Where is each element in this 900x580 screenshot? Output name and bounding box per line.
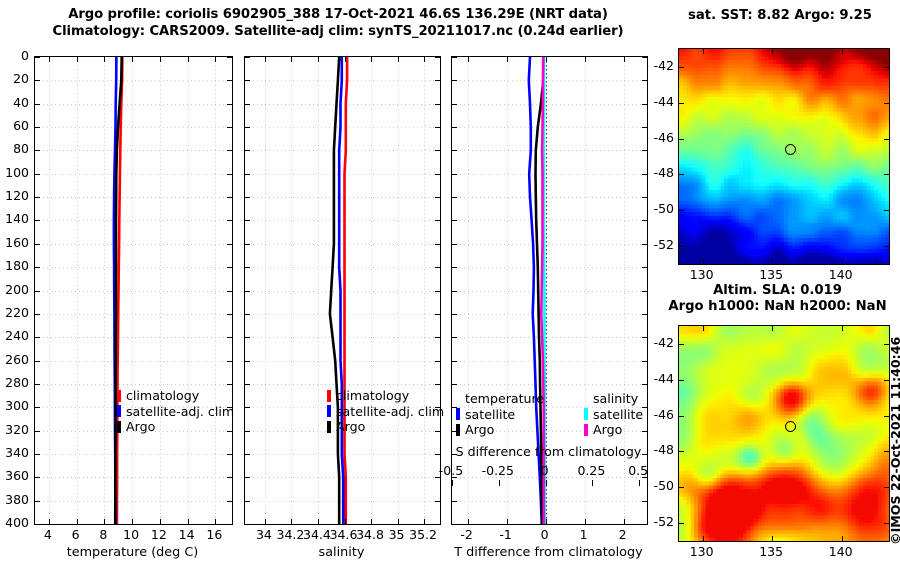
axis-tick: [371, 57, 372, 62]
axis-tick: [452, 174, 457, 175]
map-tick: [703, 49, 704, 54]
axis-tick: [35, 501, 40, 502]
legend-title: temperature: [456, 391, 544, 407]
sst-field: [679, 49, 889, 264]
map-tick: [884, 103, 889, 104]
axis-tick: [227, 314, 232, 315]
depth-tick-label: 80: [0, 141, 29, 156]
axis-tick: [452, 244, 457, 245]
map-lat-tick-label: -46: [644, 130, 674, 145]
axis-tick: [77, 57, 78, 62]
axis-tick: [245, 337, 250, 338]
map-tick: [772, 259, 773, 264]
legend-label: Argo: [126, 419, 155, 435]
map-lat-tick-label: -50: [644, 201, 674, 216]
map-tick: [884, 139, 889, 140]
depth-tick-label: 160: [0, 235, 29, 250]
axis-tick: [642, 220, 647, 221]
series-satellite-adj-clim: [339, 57, 343, 524]
legend-label: Argo: [336, 419, 365, 435]
sla-map-title: Altim. SLA: 0.019 Argo h1000: NaN h2000:…: [655, 283, 900, 315]
axis-tick: [227, 291, 232, 292]
legend-swatch-satellite: [456, 408, 460, 420]
map-tick: [842, 49, 843, 54]
map-tick: [772, 536, 773, 541]
x-axis-label: temperature (deg C): [34, 545, 231, 560]
map-lat-tick-label: -50: [644, 478, 674, 493]
axis-tick: [435, 337, 440, 338]
axis-tick: [468, 57, 469, 62]
salinity-difference-tick-label: -0.5: [426, 463, 476, 478]
map-lat-tick-label: -46: [644, 407, 674, 422]
axis-tick: [215, 57, 216, 62]
map-tick: [842, 536, 843, 541]
axis-tick: [245, 127, 250, 128]
legend-label: Argo: [465, 422, 494, 438]
axis-tick: [435, 174, 440, 175]
axis-tick: [35, 267, 40, 268]
map-tick: [679, 67, 684, 68]
salinity-difference-tick-label: 0: [520, 463, 570, 478]
axis-tick: [227, 384, 232, 385]
map-lon-tick-label: 130: [677, 544, 727, 559]
axis-tick: [452, 384, 457, 385]
axis-tick: [104, 519, 105, 524]
axis-tick: [435, 197, 440, 198]
sst-map[interactable]: [678, 48, 890, 265]
depth-tick-label: 60: [0, 118, 29, 133]
axis-tick: [245, 477, 250, 478]
legend-swatch-climatology: [327, 390, 331, 402]
map-lat-tick-label: -48: [644, 165, 674, 180]
map-lat-tick-label: -52: [644, 237, 674, 252]
depth-tick-label: 320: [0, 422, 29, 437]
axis-tick: [227, 361, 232, 362]
map-lon-tick-label: 135: [746, 544, 796, 559]
depth-tick-label: 300: [0, 398, 29, 413]
axis-tick: [35, 477, 40, 478]
map-tick: [679, 451, 684, 452]
legend-title: salinity: [584, 391, 643, 407]
axis-tick: [49, 519, 50, 524]
map-tick: [884, 67, 889, 68]
map-tick: [884, 174, 889, 175]
axis-tick: [245, 361, 250, 362]
axis-tick: [452, 57, 457, 58]
axis-tick: [585, 519, 586, 524]
depth-tick-label: 400: [0, 515, 29, 530]
axis-tick: [35, 361, 40, 362]
axis-tick: [245, 174, 250, 175]
axis-tick: [245, 431, 250, 432]
legend-item: climatology: [117, 388, 234, 404]
legend-label: satellite-adj. clim: [336, 404, 444, 420]
map-tick: [679, 344, 684, 345]
axis-tick: [424, 57, 425, 62]
axis-tick: [642, 291, 647, 292]
axis-tick: [35, 80, 40, 81]
salinity-difference-tick: [546, 480, 547, 486]
axis-tick: [245, 407, 250, 408]
axis-tick: [424, 519, 425, 524]
map-lon-tick-label: 130: [677, 267, 727, 282]
depth-tick-label: 120: [0, 188, 29, 203]
x-axis-label: salinity: [244, 545, 439, 560]
axis-tick: [291, 519, 292, 524]
map-tick: [679, 246, 684, 247]
map-tick: [679, 487, 684, 488]
temperature-plot-area: [35, 57, 232, 524]
map-tick: [679, 380, 684, 381]
axis-tick: [435, 150, 440, 151]
legend-label: satellite-adj. clim: [126, 404, 234, 420]
map-tick: [703, 536, 704, 541]
axis-tick: [435, 220, 440, 221]
axis-tick: [435, 314, 440, 315]
salinity-difference-tick-label: 0.25: [566, 463, 616, 478]
legend-swatch-climatology: [117, 390, 121, 402]
axis-tick: [452, 291, 457, 292]
argo-position-marker: [785, 144, 796, 155]
legend-group: climatologysatellite-adj. climArgo: [117, 388, 234, 435]
salinity-difference-tick: [452, 480, 453, 486]
axis-tick: [245, 150, 250, 151]
map-lat-tick-label: -52: [644, 514, 674, 529]
x-tick-label: 2: [598, 527, 648, 542]
legend-group: climatologysatellite-adj. climArgo: [327, 388, 444, 435]
legend-label: Argo: [593, 422, 622, 438]
axis-tick: [245, 220, 250, 221]
legend-label: satellite: [593, 407, 643, 423]
sla-map-title-line2: Argo h1000: NaN h2000: NaN: [655, 299, 900, 315]
legend-swatch-argo: [117, 421, 121, 433]
axis-tick: [35, 244, 40, 245]
axis-tick: [227, 267, 232, 268]
axis-tick: [452, 220, 457, 221]
depth-tick-label: 260: [0, 352, 29, 367]
axis-tick: [642, 127, 647, 128]
axis-tick: [452, 197, 457, 198]
map-tick: [679, 103, 684, 104]
axis-tick: [160, 57, 161, 62]
axis-tick: [227, 244, 232, 245]
axis-tick: [227, 57, 232, 58]
axis-tick: [35, 104, 40, 105]
legend-item: Argo: [456, 422, 544, 438]
axis-tick: [642, 80, 647, 81]
axis-tick: [227, 501, 232, 502]
axis-tick: [160, 519, 161, 524]
axis-tick: [507, 57, 508, 62]
axis-tick: [345, 519, 346, 524]
series-climatology: [345, 57, 348, 524]
axis-tick: [35, 314, 40, 315]
depth-tick-label: 340: [0, 445, 29, 460]
series-argo: [330, 57, 339, 524]
legend-label: climatology: [336, 388, 409, 404]
salinity-difference-axis-label: S difference from climatology: [451, 444, 646, 459]
map-lat-tick-label: -42: [644, 58, 674, 73]
axis-tick: [104, 57, 105, 62]
axis-tick: [227, 174, 232, 175]
axis-tick: [435, 361, 440, 362]
x-axis-label: T difference from climatology: [451, 545, 646, 560]
depth-tick-label: 240: [0, 328, 29, 343]
depth-tick-label: 140: [0, 211, 29, 226]
axis-tick: [452, 127, 457, 128]
axis-tick: [435, 384, 440, 385]
axis-tick: [245, 267, 250, 268]
legend-item: satellite-adj. clim: [117, 404, 234, 420]
axis-tick: [35, 220, 40, 221]
depth-tick-label: 280: [0, 375, 29, 390]
salinity-plot-area: [245, 57, 440, 524]
axis-tick: [435, 501, 440, 502]
map-tick: [679, 139, 684, 140]
map-tick: [772, 326, 773, 331]
axis-tick: [227, 220, 232, 221]
axis-tick: [35, 174, 40, 175]
legend-swatch-satellite-adj-clim: [117, 405, 121, 417]
axis-tick: [318, 57, 319, 62]
axis-tick: [435, 291, 440, 292]
axis-tick: [642, 314, 647, 315]
axis-tick: [245, 57, 250, 58]
legend-item: Argo: [327, 419, 444, 435]
axis-tick: [452, 150, 457, 151]
x-tick-label: 35.2: [398, 527, 448, 542]
legend-swatch-argo: [584, 424, 588, 436]
axis-tick: [435, 57, 440, 58]
axis-tick: [227, 337, 232, 338]
axis-tick: [291, 57, 292, 62]
axis-tick: [35, 384, 40, 385]
depth-tick-label: 40: [0, 95, 29, 110]
argo-position-marker: [785, 421, 796, 432]
legend-item: climatology: [327, 388, 444, 404]
legend-item: satellite-adj. clim: [327, 404, 444, 420]
axis-tick: [227, 80, 232, 81]
axis-tick: [435, 127, 440, 128]
map-lat-tick-label: -42: [644, 335, 674, 350]
axis-tick: [435, 80, 440, 81]
sla-field: [679, 326, 889, 541]
axis-tick: [642, 501, 647, 502]
axis-tick: [624, 57, 625, 62]
axis-tick: [624, 519, 625, 524]
axis-tick: [35, 291, 40, 292]
axis-tick: [245, 384, 250, 385]
legend-group: temperaturesatelliteArgo: [456, 391, 544, 438]
legend-item: satellite: [584, 407, 643, 423]
axis-tick: [245, 80, 250, 81]
axis-tick: [35, 127, 40, 128]
axis-tick: [245, 454, 250, 455]
axis-tick: [245, 291, 250, 292]
axis-tick: [265, 57, 266, 62]
axis-tick: [245, 104, 250, 105]
axis-tick: [245, 501, 250, 502]
depth-tick-label: 360: [0, 468, 29, 483]
legend-swatch-satellite: [584, 408, 588, 420]
temperature-profile-panel[interactable]: [34, 56, 233, 525]
legend-label: satellite: [465, 407, 515, 423]
axis-tick: [265, 519, 266, 524]
map-tick: [679, 523, 684, 524]
axis-tick: [227, 197, 232, 198]
axis-tick: [642, 197, 647, 198]
axis-tick: [452, 80, 457, 81]
axis-tick: [452, 314, 457, 315]
depth-tick-label: 220: [0, 305, 29, 320]
salinity-difference-tick: [499, 480, 500, 486]
copyright-label: ©IMOS 22-Oct-2021 11:40:46: [888, 337, 900, 545]
axis-tick: [35, 454, 40, 455]
map-lat-tick-label: -44: [644, 371, 674, 386]
axis-tick: [435, 267, 440, 268]
title-line-1: Argo profile: coriolis 6902905_388 17-Oc…: [18, 6, 658, 23]
axis-tick: [35, 337, 40, 338]
axis-tick: [435, 104, 440, 105]
salinity-difference-tick-label: -0.25: [473, 463, 523, 478]
axis-tick: [318, 519, 319, 524]
axis-tick: [398, 57, 399, 62]
axis-tick: [507, 519, 508, 524]
axis-tick: [452, 104, 457, 105]
axis-tick: [35, 57, 40, 58]
axis-tick: [227, 127, 232, 128]
profile-curves: [35, 57, 232, 524]
legend-label: climatology: [126, 388, 199, 404]
x-tick-label: 16: [189, 527, 239, 542]
map-tick: [679, 416, 684, 417]
depth-tick-label: 180: [0, 258, 29, 273]
axis-tick: [452, 501, 457, 502]
map-tick: [679, 210, 684, 211]
page-title: Argo profile: coriolis 6902905_388 17-Oc…: [18, 6, 658, 40]
map-tick: [884, 246, 889, 247]
axis-tick: [35, 150, 40, 151]
axis-tick: [435, 454, 440, 455]
map-lat-tick-label: -44: [644, 94, 674, 109]
axis-tick: [585, 57, 586, 62]
axis-tick: [642, 267, 647, 268]
legend-item: Argo: [117, 419, 234, 435]
depth-tick-label: 20: [0, 71, 29, 86]
axis-tick: [452, 337, 457, 338]
axis-tick: [245, 244, 250, 245]
axis-tick: [468, 519, 469, 524]
legend-swatch-argo: [327, 421, 331, 433]
axis-tick: [227, 150, 232, 151]
legend-swatch-argo: [456, 424, 460, 436]
axis-tick: [227, 454, 232, 455]
axis-tick: [227, 477, 232, 478]
axis-tick: [642, 361, 647, 362]
axis-tick: [132, 519, 133, 524]
axis-tick: [452, 361, 457, 362]
legend-swatch-satellite-adj-clim: [327, 405, 331, 417]
axis-tick: [227, 104, 232, 105]
axis-tick: [371, 519, 372, 524]
map-tick: [772, 49, 773, 54]
depth-tick-label: 200: [0, 282, 29, 297]
axis-tick: [245, 197, 250, 198]
depth-tick-label: 380: [0, 492, 29, 507]
sla-map[interactable]: [678, 325, 890, 542]
salinity-difference-tick-label: 0.5: [613, 463, 663, 478]
axis-tick: [215, 519, 216, 524]
salinity-difference-tick: [592, 480, 593, 486]
axis-tick: [435, 244, 440, 245]
depth-tick-label: 0: [0, 48, 29, 63]
axis-tick: [398, 519, 399, 524]
axis-tick: [188, 519, 189, 524]
map-tick: [842, 326, 843, 331]
axis-tick: [245, 314, 250, 315]
map-lon-tick-label: 140: [816, 267, 866, 282]
salinity-difference-tick: [639, 480, 640, 486]
axis-tick: [49, 57, 50, 62]
axis-tick: [345, 57, 346, 62]
axis-tick: [188, 57, 189, 62]
map-lon-tick-label: 140: [816, 544, 866, 559]
axis-tick: [35, 407, 40, 408]
axis-tick: [132, 57, 133, 62]
legend-item: Argo: [584, 422, 643, 438]
map-tick: [679, 174, 684, 175]
sst-map-title-text: sat. SST: 8.82 Argo: 9.25: [688, 8, 872, 23]
sst-map-title: sat. SST: 8.82 Argo: 9.25: [660, 8, 900, 24]
salinity-profile-panel[interactable]: [244, 56, 441, 525]
axis-tick: [642, 150, 647, 151]
map-tick: [884, 210, 889, 211]
map-lon-tick-label: 135: [746, 267, 796, 282]
map-tick: [842, 259, 843, 264]
axis-tick: [452, 267, 457, 268]
axis-tick: [35, 431, 40, 432]
axis-tick: [77, 519, 78, 524]
depth-tick-label: 100: [0, 165, 29, 180]
axis-tick: [35, 197, 40, 198]
legend-group: salinitysatelliteArgo: [584, 391, 643, 438]
map-tick: [703, 326, 704, 331]
map-tick: [703, 259, 704, 264]
legend-item: satellite: [456, 407, 544, 423]
sla-map-title-line1: Altim. SLA: 0.019: [655, 283, 900, 299]
profile-curves: [245, 57, 440, 524]
map-lat-tick-label: -48: [644, 442, 674, 457]
title-line-2: Climatology: CARS2009. Satellite-adj cli…: [18, 23, 658, 40]
